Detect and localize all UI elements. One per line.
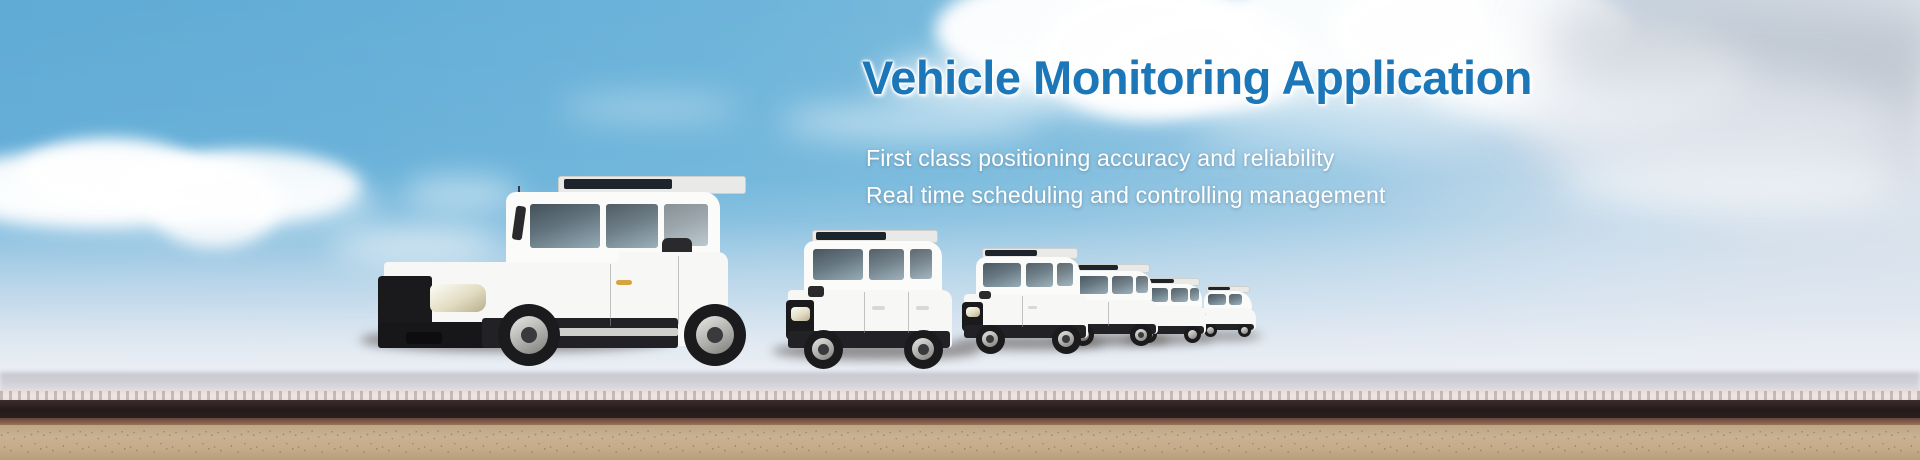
subtitle-line-1: First class positioning accuracy and rel… — [866, 145, 1335, 172]
sand-grain-texture — [0, 425, 1920, 460]
page-title: Vehicle Monitoring Application — [862, 50, 1532, 105]
vehicle-monitoring-banner: Vehicle Monitoring Application First cla… — [0, 0, 1920, 460]
horizon-speckle-texture — [0, 391, 1920, 400]
subtitle-line-2: Real time scheduling and controlling man… — [866, 182, 1386, 209]
